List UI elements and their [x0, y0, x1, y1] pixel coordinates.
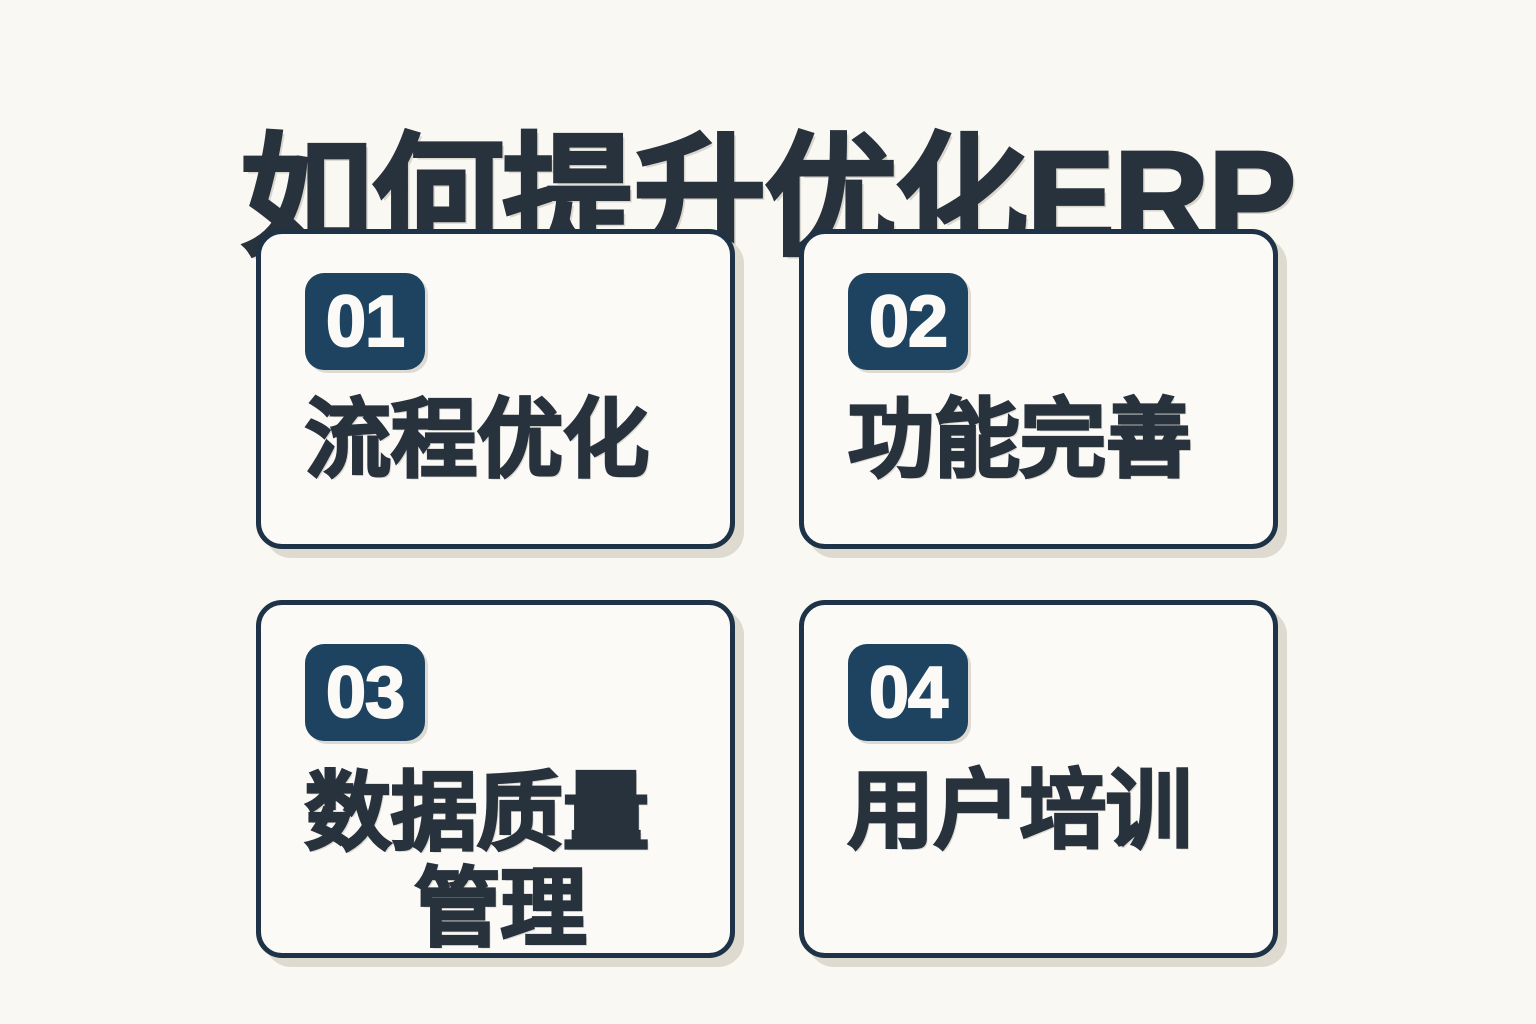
card-03-title: 数据质量 管理 — [305, 765, 730, 958]
card-01-number-badge: 01 — [305, 273, 425, 370]
card-03[interactable]: 03 数据质量 管理 — [256, 600, 735, 958]
card-02[interactable]: 02 功能完善 — [799, 229, 1278, 549]
card-02-title: 功能完善 — [848, 392, 1273, 488]
card-01-title: 流程优化 — [305, 392, 730, 488]
card-03-title-line-1: 数据质量 — [305, 765, 696, 861]
card-04-number: 04 — [869, 657, 947, 729]
card-03-number-badge: 03 — [305, 644, 425, 741]
card-04-title: 用户培训 — [848, 763, 1273, 859]
card-01-number: 01 — [326, 286, 404, 358]
card-04[interactable]: 04 用户培训 — [799, 600, 1278, 958]
card-04-title-line-1: 用户培训 — [848, 763, 1239, 859]
card-04-number-badge: 04 — [848, 644, 968, 741]
card-02-title-line-1: 功能完善 — [848, 392, 1239, 488]
card-grid: 01 流程优化 02 功能完善 03 数据质量 管理 — [256, 229, 1278, 958]
card-01[interactable]: 01 流程优化 — [256, 229, 735, 549]
infographic-poster: 如何提升优化ERP 01 流程优化 02 功能完善 03 — [0, 0, 1536, 1024]
card-02-number: 02 — [869, 286, 947, 358]
card-01-title-line-1: 流程优化 — [305, 392, 696, 488]
card-02-number-badge: 02 — [848, 273, 968, 370]
card-03-title-line-2: 管理 — [305, 861, 696, 957]
card-03-number: 03 — [326, 657, 404, 729]
